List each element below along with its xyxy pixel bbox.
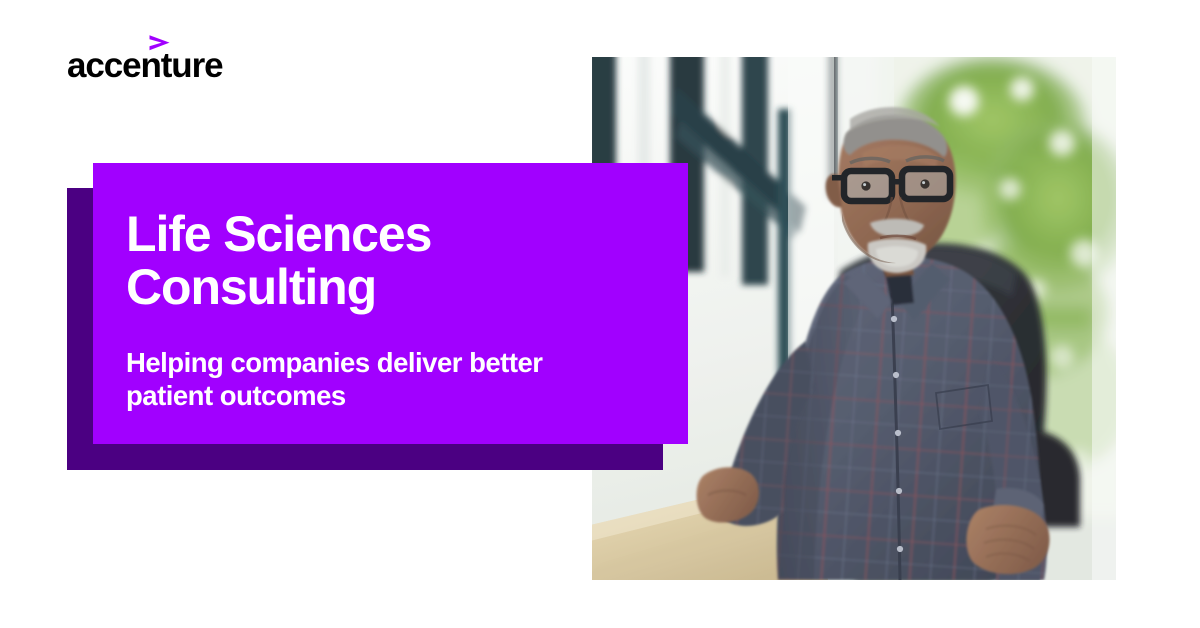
headline-card-content: Life Sciences Consulting Helping compani… <box>126 208 668 412</box>
headline-card: Life Sciences Consulting Helping compani… <box>93 163 688 444</box>
page-subtitle: Helping companies deliver better patient… <box>126 346 668 412</box>
accenture-life-sciences-banner: accenture <box>0 0 1200 628</box>
accenture-logo[interactable]: accenture <box>67 34 267 86</box>
page-title: Life Sciences Consulting <box>126 208 668 314</box>
accenture-wordmark: accenture <box>67 48 222 83</box>
